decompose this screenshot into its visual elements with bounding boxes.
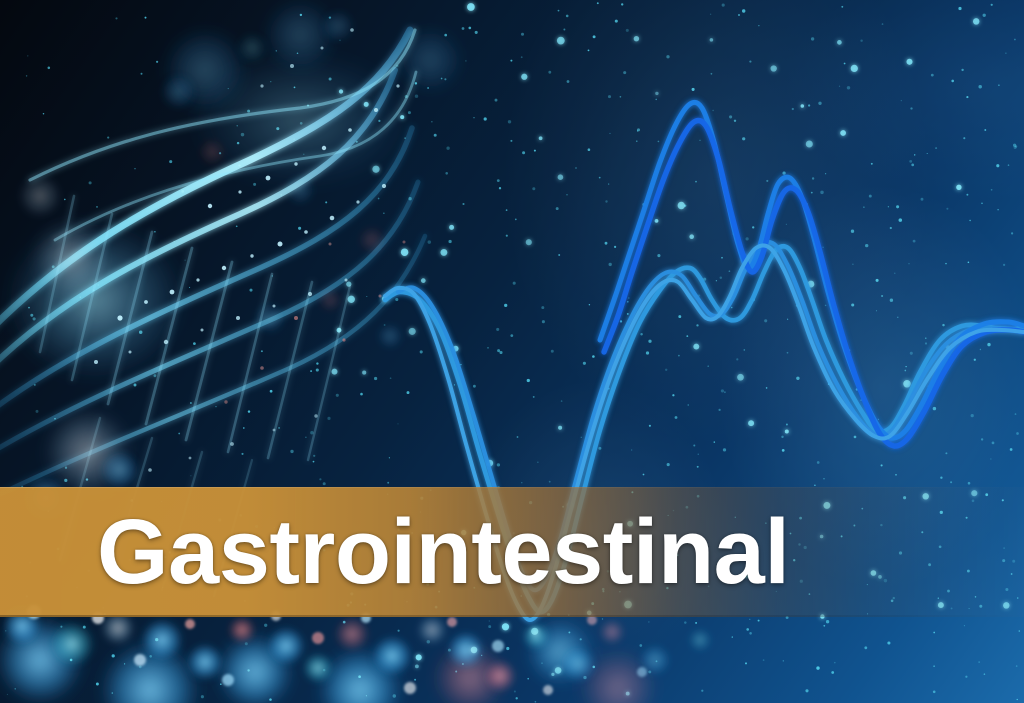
banner-root: Gastrointestinal bbox=[0, 0, 1024, 703]
wave-line bbox=[604, 120, 1024, 446]
wave-line bbox=[600, 102, 1024, 438]
page-title: Gastrointestinal bbox=[97, 487, 789, 617]
